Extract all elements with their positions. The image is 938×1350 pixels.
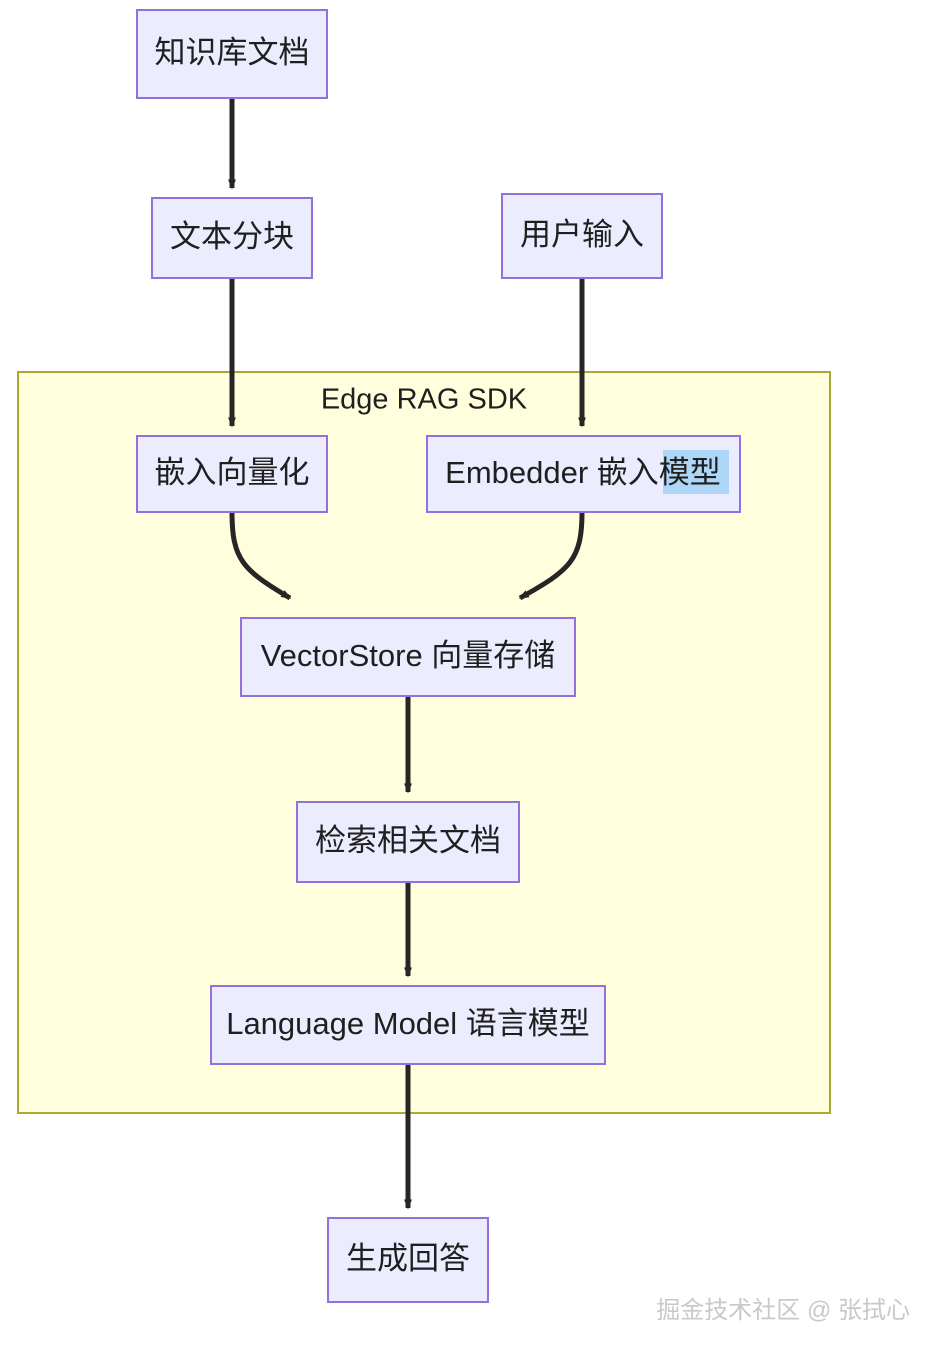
node-vector-store[interactable]: VectorStore 向量存储: [241, 618, 575, 696]
watermark-text: 掘金技术社区 @ 张拭心: [656, 1297, 910, 1324]
node-text-chunk[interactable]: 文本分块: [152, 198, 312, 278]
cluster-label: Edge RAG SDK: [321, 384, 528, 416]
node-retrieve-docs[interactable]: 检索相关文档: [297, 802, 519, 882]
node-user-input[interactable]: 用户输入: [502, 194, 662, 278]
node-gen-answer[interactable]: 生成回答: [328, 1218, 488, 1302]
node-text-chunk-label: 文本分块: [170, 219, 294, 254]
node-kb-doc-label: 知识库文档: [155, 35, 310, 70]
node-gen-answer-label: 生成回答: [346, 1241, 470, 1276]
node-language-model-label: Language Model 语言模型: [226, 1006, 590, 1041]
node-embed-vector[interactable]: 嵌入向量化: [137, 436, 327, 512]
node-language-model[interactable]: Language Model 语言模型: [211, 986, 605, 1064]
node-retrieve-docs-label: 检索相关文档: [315, 823, 501, 858]
node-vector-store-label: VectorStore 向量存储: [261, 638, 556, 673]
node-user-input-label: 用户输入: [520, 217, 644, 252]
node-embedder-label: Embedder 嵌入模型: [445, 455, 721, 490]
node-kb-doc[interactable]: 知识库文档: [137, 10, 327, 98]
node-embed-vector-label: 嵌入向量化: [155, 455, 310, 490]
rag-flowchart: Edge RAG SDK 知识库文档 文本分块 用户输入 嵌入向量化 Embed…: [0, 0, 938, 1350]
node-embedder[interactable]: Embedder 嵌入模型: [427, 436, 740, 512]
